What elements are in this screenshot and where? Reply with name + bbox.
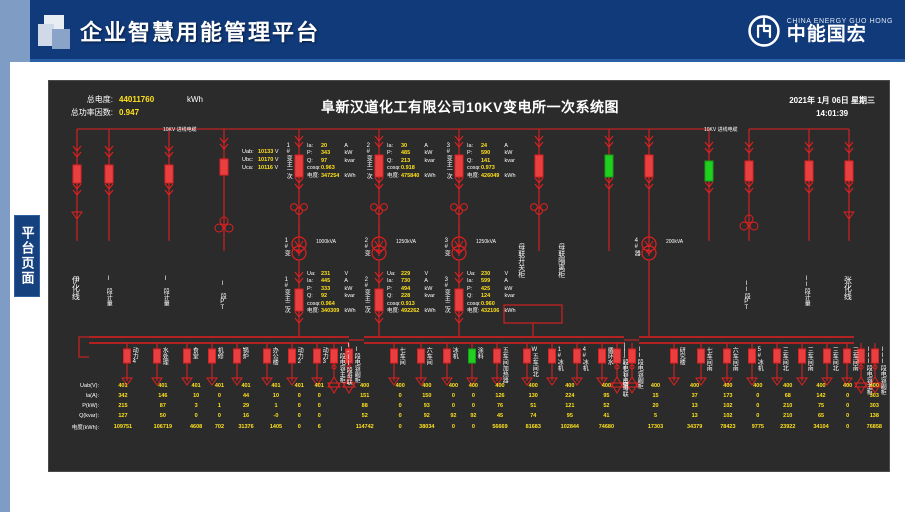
table-cell: 400 xyxy=(483,381,516,391)
feeder-label: 三车间北 xyxy=(781,347,787,371)
table-cell: 224 xyxy=(550,391,590,401)
table-cell: 87 xyxy=(143,401,183,411)
transformer-label-1: 1#变 xyxy=(283,238,289,256)
feeder-label: 冰机 xyxy=(451,347,457,359)
hv-meter-2-value: 0.918 xyxy=(401,165,423,172)
single-line-diagram-panel: 总电度: 44011760 kWh 总功率因数: 0.947 阜新汉道化工有限公… xyxy=(48,80,890,472)
table-cell: 0 xyxy=(463,401,483,411)
lv-meter-1-key: Ua: xyxy=(307,271,321,278)
table-cell: 52 xyxy=(329,411,390,421)
brand-chinese: 中能国宏 xyxy=(787,25,893,45)
table-cell: 51 xyxy=(517,401,550,411)
lv-meter-3-key: Ia: xyxy=(467,278,481,285)
table-cell: 34104 xyxy=(804,421,837,433)
lv-meter-3-unit: V xyxy=(503,271,508,277)
table-cell: 45 xyxy=(483,411,516,421)
table-cell: 142 xyxy=(804,391,837,401)
hv-meter-block-1: Ia:20 AP:343 kWQ:97 kvarcosφ:0.963 电度:34… xyxy=(307,143,356,180)
lv-meter-2-key: cosφ: xyxy=(387,301,401,308)
feeder-breaker xyxy=(698,349,705,363)
feeder-label: 涂料 xyxy=(476,347,482,359)
table-cell: 0 xyxy=(745,411,772,421)
incoming-cable-label-left: 10KV 进线电缆 xyxy=(163,126,197,133)
uab-unit: V xyxy=(275,149,279,155)
feeder-breaker xyxy=(154,349,161,363)
hv-meter-2-unit: kvar xyxy=(423,158,435,164)
feeder-label: 动力3 xyxy=(321,347,327,365)
feeder-label: 办公楼 xyxy=(271,347,277,365)
hv-cabinet-name-2: 2#变主一次 xyxy=(365,143,371,179)
feeder-breaker xyxy=(671,349,678,363)
sidebar-tab-platform-page[interactable]: 平台页面 xyxy=(14,215,40,297)
lv-meter-2-unit: kWh xyxy=(423,308,436,314)
feeder-label: 水处理 xyxy=(161,347,167,365)
hv-meter-1-key: cosφ: xyxy=(307,165,321,172)
lv-meter-block-1: Ua:231 VIa:445 AP:333 kWQ:92 kvarcosφ:0.… xyxy=(307,271,356,315)
lv-meter-1-unit: V xyxy=(343,271,348,277)
table-cell: 102844 xyxy=(550,421,590,433)
table-row: 电度(kWh):10975110671946087023137614050611… xyxy=(49,421,891,433)
lv-meter-3-row: Ua:230 V xyxy=(467,271,516,278)
table-cell: 95 xyxy=(590,391,623,401)
feeder-label: W五车间北 xyxy=(531,347,537,377)
table-cell: 121 xyxy=(550,401,590,411)
section-ii-metering: II段计量 xyxy=(803,276,809,306)
lv-meter-2-row: Q:228 kvar xyxy=(387,293,436,300)
table-row-header: 电度(kWh): xyxy=(49,421,103,433)
hv-meter-1-key: 电度: xyxy=(307,173,321,180)
table-cell: 400 xyxy=(463,381,483,391)
lv-cabinet-name-1: 1#变主二次 xyxy=(283,277,289,313)
feeder-label: 动力4 xyxy=(131,347,137,365)
feeder-label: 三车间北 xyxy=(831,347,837,371)
left-rail xyxy=(0,62,10,512)
lv-meter-2-row: P:494 kW xyxy=(387,286,436,293)
lv-meter-2-row: Ia:730 A xyxy=(387,278,436,285)
hv-meter-1-row: Q:97 kvar xyxy=(307,158,356,165)
table-cell: 0 xyxy=(838,391,858,401)
lv-meter-3-unit: kW xyxy=(503,286,512,292)
table-cell: 92 xyxy=(443,411,463,421)
lv-meter-1-row: 电度:340309 kWh xyxy=(307,308,356,315)
lv-meter-2-value: 730 xyxy=(401,278,423,285)
table-cell: 29 xyxy=(229,401,262,411)
hv-meter-1-unit: kvar xyxy=(343,158,355,164)
feeder-breaker xyxy=(418,349,425,363)
hv-meter-2-value: 485 xyxy=(401,150,423,157)
lv-meter-1-unit: kWh xyxy=(343,308,356,314)
feeder-label: 动力2 xyxy=(296,347,302,365)
hv-meter-2-row: 电度:475840 kWh xyxy=(387,173,436,180)
table-cell: 0 xyxy=(838,411,858,421)
table-cell: 15 xyxy=(623,391,678,401)
transformer-rating-1: 1000kVA xyxy=(316,239,336,245)
lv-meter-block-2: Ua:229 VIa:730 AP:494 kWQ:228 kvarcosφ:0… xyxy=(387,271,436,315)
lv-meter-2-key: 电度: xyxy=(387,308,401,315)
hv-meter-1-value: 20 xyxy=(321,143,343,150)
hv-meter-3-key: P: xyxy=(467,150,481,157)
table-cell: 400 xyxy=(804,381,837,391)
feeder-breaker xyxy=(844,349,851,363)
bus-tie-label-1: I-II段母联 xyxy=(345,343,351,385)
feeder-breaker xyxy=(749,349,756,363)
table-cell: 0 xyxy=(209,391,229,401)
table-cell: 95 xyxy=(550,411,590,421)
table-cell: 146 xyxy=(143,391,183,401)
table-cell: 74 xyxy=(517,411,550,421)
hv-meter-2-key: Q: xyxy=(387,158,401,165)
table-cell: 0 xyxy=(390,411,410,421)
table-cell: 342 xyxy=(103,391,143,401)
lv-meter-2-value: 229 xyxy=(401,271,423,278)
lv-meter-1-unit: A xyxy=(343,278,348,284)
table-cell: 34379 xyxy=(678,421,711,433)
lv-meter-3-unit: kWh xyxy=(503,308,516,314)
feeder-breaker xyxy=(724,349,731,363)
table-cell: 210 xyxy=(771,411,804,421)
table-cell: 3 xyxy=(183,401,210,411)
hv-meter-2-value: 475840 xyxy=(401,173,423,180)
uab-value: 10133 xyxy=(258,149,273,155)
feeder-breaker xyxy=(234,349,241,363)
table-cell: 0 xyxy=(745,391,772,401)
lv-meter-1-value: 92 xyxy=(321,293,343,300)
table-cell: 109751 xyxy=(103,421,143,433)
table-cell: 56669 xyxy=(483,421,516,433)
hv-meter-1-row: Ia:20 A xyxy=(307,143,356,150)
table-cell: 10 xyxy=(263,391,290,401)
lv-meter-3-key: Ua: xyxy=(467,271,481,278)
transformer-rating-3: 1250kVA xyxy=(476,239,496,245)
hv-cabinet-name-1: 1#变主一次 xyxy=(285,143,291,179)
table-cell: 702 xyxy=(209,421,229,433)
hv-cabinet-name-3: 3#变主一次 xyxy=(445,143,451,179)
table-cell: 0 xyxy=(309,391,329,401)
lv-meter-2-unit: kvar xyxy=(423,293,435,299)
table-cell: 31376 xyxy=(229,421,262,433)
uab-label: Uab: xyxy=(242,148,258,156)
lv-meter-1-value: 333 xyxy=(321,286,343,293)
table-cell: 0 xyxy=(838,421,858,433)
lv-meter-3-key: P: xyxy=(467,286,481,293)
table-cell: 0 xyxy=(463,421,483,433)
lv-meter-2-value: 0.913 xyxy=(401,301,423,308)
feeder-breaker xyxy=(184,349,191,363)
table-cell: 114742 xyxy=(329,421,390,433)
lv-meter-block-3: Ua:230 VIa:599 AP:425 kWQ:124 kvarcosφ:0… xyxy=(467,271,516,315)
lv-meter-3-row: Q:124 kvar xyxy=(467,293,516,300)
lv-meter-3-key: cosφ: xyxy=(467,301,481,308)
lv-meter-1-row: P:333 kW xyxy=(307,286,356,293)
lv-meter-2-key: Q: xyxy=(387,293,401,300)
hv-meter-3-key: Q: xyxy=(467,158,481,165)
feeder-breaker xyxy=(524,349,531,363)
hv-meter-3-row: 电度:426049 kWh xyxy=(467,173,516,180)
hv-meter-2-row: Q:213 kvar xyxy=(387,158,436,165)
table-cell: 0 xyxy=(309,401,329,411)
table-cell: 400 xyxy=(858,381,891,391)
lv-meter-2-value: 494 xyxy=(401,286,423,293)
hv-meter-1-row: 电度:347254 kWh xyxy=(307,173,356,180)
table-cell: 401 xyxy=(263,381,290,391)
ubc-label: Ubc: xyxy=(242,156,258,164)
table-cell: 401 xyxy=(309,381,329,391)
hv-meter-1-key: P: xyxy=(307,150,321,157)
header-accent-strip xyxy=(0,0,30,62)
hv-meter-2-row: cosφ:0.918 xyxy=(387,165,436,172)
table-cell: 52 xyxy=(590,401,623,411)
lv-meter-1-key: cosφ: xyxy=(307,301,321,308)
table-row-header: P(kW): xyxy=(49,401,103,411)
table-cell: 400 xyxy=(838,381,858,391)
hv-meter-2-key: P: xyxy=(387,150,401,157)
table-cell: 0 xyxy=(209,411,229,421)
table-cell: 400 xyxy=(517,381,550,391)
hv-meter-2-row: Ia:30 A xyxy=(387,143,436,150)
table-cell: 150 xyxy=(410,391,443,401)
hv-meter-3-key: Ia: xyxy=(467,143,481,150)
table-cell: 401 xyxy=(183,381,210,391)
lv-meter-1-key: 电度: xyxy=(307,308,321,315)
lv-meter-3-value: 230 xyxy=(481,271,503,278)
hv-meter-2-unit: kWh xyxy=(423,173,436,179)
table-cell: 401 xyxy=(229,381,262,391)
table-cell: 0 xyxy=(289,391,309,401)
table-cell: 38034 xyxy=(410,421,443,433)
table-cell: 44 xyxy=(229,391,262,401)
hv-meter-1-key: Q: xyxy=(307,158,321,165)
table-cell: 75 xyxy=(804,401,837,411)
breaker-closed-indicator xyxy=(605,155,613,177)
hv-meter-2-key: Ia: xyxy=(387,143,401,150)
table-cell: 210 xyxy=(771,401,804,411)
incoming-cable-label-right: 10KV 进线电缆 xyxy=(704,126,738,133)
hv-meter-2-row: P:485 kW xyxy=(387,150,436,157)
lv-cabinet-name-2: 2#变主二次 xyxy=(363,277,369,313)
hv-meter-1-unit: A xyxy=(343,143,348,149)
lv-meter-2-row: Ua:229 V xyxy=(387,271,436,278)
feeder-breaker xyxy=(314,349,321,363)
feeder-breaker xyxy=(209,349,216,363)
hv-meter-3-key: cosφ: xyxy=(467,165,481,172)
table-cell: 401 xyxy=(103,381,143,391)
table-cell: 151 xyxy=(329,391,390,401)
feeder-label: 六车间 xyxy=(425,347,431,365)
hv-meter-3-value: 24 xyxy=(481,143,503,150)
hv-meter-3-row: P:590 kW xyxy=(467,150,516,157)
table-cell: 102 xyxy=(711,411,744,421)
feeder-label: I段电容主柜 xyxy=(338,347,344,383)
table-cell: 173 xyxy=(711,391,744,401)
feeder-label: 七车间 xyxy=(398,347,404,365)
transformer-rating-2: 1250kVA xyxy=(396,239,416,245)
table-cell: 0 xyxy=(289,401,309,411)
lv-meter-1-row: Ia:445 A xyxy=(307,278,356,285)
lv-meter-3-row: P:425 kW xyxy=(467,286,516,293)
lv-meter-1-unit: kW xyxy=(343,286,352,292)
hv-meter-3-value: 426049 xyxy=(481,173,503,180)
lv-meter-1-value: 445 xyxy=(321,278,343,285)
hv-meter-3-value: 0.973 xyxy=(481,165,503,172)
table-cell: 400 xyxy=(745,381,772,391)
table-cell: 400 xyxy=(678,381,711,391)
feeder-breaker xyxy=(599,349,606,363)
table-cell: 81683 xyxy=(517,421,550,433)
hv-meter-1-row: cosφ:0.963 xyxy=(307,165,356,172)
section-i-pt: I 段PT xyxy=(219,281,225,311)
table-cell: 93 xyxy=(410,401,443,411)
lv-meter-3-value: 599 xyxy=(481,278,503,285)
feeder-label: 五车间加热器 xyxy=(501,347,507,383)
table-cell: 401 xyxy=(289,381,309,391)
table-cell: 17303 xyxy=(623,421,678,433)
application-root: 企业智慧用能管理平台 CHINA ENERGY GUO HONG 中能国宏 平台… xyxy=(0,0,905,512)
hv-meter-3-unit: kvar xyxy=(503,158,515,164)
lv-meter-1-row: Q:92 kvar xyxy=(307,293,356,300)
feeder-breaker xyxy=(549,349,556,363)
hv-meter-1-value: 0.963 xyxy=(321,165,343,172)
table-cell: 0 xyxy=(745,401,772,411)
table-cell: 400 xyxy=(771,381,804,391)
table-cell: 4608 xyxy=(183,421,210,433)
pt-voltage-block: Uab:10133 V Ubc:10170 V Uca:10116 V xyxy=(242,148,279,172)
feeder-breaker xyxy=(774,349,781,363)
table-cell: 0 xyxy=(309,411,329,421)
lv-meter-1-row: Ua:231 V xyxy=(307,271,356,278)
lv-meter-1-key: P: xyxy=(307,286,321,293)
lv-meter-2-key: P: xyxy=(387,286,401,293)
feeder-label: 1#冰机 xyxy=(556,347,562,371)
hv-meter-3-value: 590 xyxy=(481,150,503,157)
table-cell: 65 xyxy=(804,411,837,421)
hv-meter-3-row: Q:141 kvar xyxy=(467,158,516,165)
table-cell: 400 xyxy=(590,381,623,391)
table-cell: 106719 xyxy=(143,421,183,433)
feeder-breaker xyxy=(574,349,581,363)
table-cell: 20 xyxy=(623,401,678,411)
hv-meter-2-unit: A xyxy=(423,143,428,149)
table-cell: 400 xyxy=(711,381,744,391)
bus-coupler-switch-cabinet: 母联开关柜 xyxy=(517,243,525,278)
table-cell: 0 xyxy=(289,421,309,433)
feeder-label: I段电容副柜 xyxy=(353,347,359,383)
table-cell: 50 xyxy=(143,411,183,421)
table-cell: 37 xyxy=(678,391,711,401)
lv-meter-2-value: 228 xyxy=(401,293,423,300)
lv-meter-2-value: 492262 xyxy=(401,308,423,315)
feeder-breaker xyxy=(289,349,296,363)
table-cell: 400 xyxy=(623,381,678,391)
table-cell: 0 xyxy=(443,421,463,433)
table-cell: 303 xyxy=(858,391,891,401)
table-row-header: Uab(V): xyxy=(49,381,103,391)
lv-meter-3-unit: kvar xyxy=(503,293,515,299)
lv-meter-3-value: 425 xyxy=(481,286,503,293)
table-cell: -0 xyxy=(263,411,290,421)
ubc-value: 10170 xyxy=(258,157,273,163)
hv-meter-3-key: 电度: xyxy=(467,173,481,180)
table-cell: 76 xyxy=(483,401,516,411)
feeder-label: 5#冰机 xyxy=(756,347,762,371)
uca-unit: V xyxy=(275,165,279,171)
table-cell: 78423 xyxy=(711,421,744,433)
hv-meter-1-unit: kWh xyxy=(343,173,356,179)
transformer-rating-4: 200kVA xyxy=(666,239,683,245)
table-row-header: Ia(A): xyxy=(49,391,103,401)
transformer-label-4: 4#器 xyxy=(633,238,639,256)
table-cell: 401 xyxy=(143,381,183,391)
feeder-label: 锅炉 xyxy=(241,347,247,359)
table-cell: 10 xyxy=(183,391,210,401)
lv-meter-2-row: 电度:492262 kWh xyxy=(387,308,436,315)
table-cell: 9775 xyxy=(745,421,772,433)
table-cell: 400 xyxy=(410,381,443,391)
table-cell: 1405 xyxy=(263,421,290,433)
feeder-breaker xyxy=(629,349,636,363)
guohong-logo-icon xyxy=(747,14,781,48)
feeder-label: 4#冰机 xyxy=(581,347,587,371)
table-cell: 400 xyxy=(329,381,390,391)
table-cell: 92 xyxy=(410,411,443,421)
feeder-label: 三车间南 xyxy=(806,347,812,371)
section-ii-pt: II段PT xyxy=(743,281,749,311)
table-row-header: Q(kvar): xyxy=(49,411,103,421)
hv-meter-2-key: 电度: xyxy=(387,173,401,180)
hv-meter-3-row: cosφ:0.973 xyxy=(467,165,516,172)
lv-meter-2-key: Ia: xyxy=(387,278,401,285)
feeder-label: 研究楼 xyxy=(678,347,684,365)
feeder-breaker xyxy=(799,349,806,363)
uca-label: Uca: xyxy=(242,164,258,172)
table-cell: 76858 xyxy=(858,421,891,433)
lv-meter-1-unit: kvar xyxy=(343,293,355,299)
hv-meter-3-row: Ia:24 A xyxy=(467,143,516,150)
feeder-breaker xyxy=(872,349,879,363)
table-cell: 1 xyxy=(263,401,290,411)
table-cell: 130 xyxy=(517,391,550,401)
line-label-zhanghua: 张化线 xyxy=(843,276,851,300)
table-cell: 0 xyxy=(443,391,463,401)
table-cell: 16 xyxy=(229,411,262,421)
hv-meter-1-value: 97 xyxy=(321,158,343,165)
table-row: Ia(A):3421461004410001510150001261302249… xyxy=(49,391,891,401)
table-cell: 74680 xyxy=(590,421,623,433)
table-cell: 138 xyxy=(858,411,891,421)
transformer-label-2: 2#变 xyxy=(363,238,369,256)
app-title: 企业智慧用能管理平台 xyxy=(80,15,320,47)
table-cell: 92 xyxy=(463,411,483,421)
table-cell: 0 xyxy=(183,411,210,421)
lv-meter-3-key: 电度: xyxy=(467,308,481,315)
table-cell: 5 xyxy=(623,411,678,421)
feeder-breaker xyxy=(264,349,271,363)
hv-meter-2-key: cosφ: xyxy=(387,165,401,172)
measurement-table: Uab(V):401401401401401401401401400400400… xyxy=(49,381,891,433)
lv-meter-2-unit: A xyxy=(423,278,428,284)
lv-meter-1-value: 0.964 xyxy=(321,301,343,308)
feeder-breaker xyxy=(614,349,621,363)
feeder-label: 三车间南 xyxy=(851,347,857,371)
feeder-label: 六车间南 xyxy=(731,347,737,371)
hv-meter-3-unit: A xyxy=(503,143,508,149)
lv-meter-3-value: 432106 xyxy=(481,308,503,315)
lv-meter-3-value: 0.960 xyxy=(481,301,503,308)
ubc-unit: V xyxy=(275,157,279,163)
table-cell: 6 xyxy=(309,421,329,433)
table-cell: 0 xyxy=(390,401,410,411)
table-row: P(kW):2158731291008809300765112152201310… xyxy=(49,401,891,411)
feeder-breaker xyxy=(331,349,338,363)
